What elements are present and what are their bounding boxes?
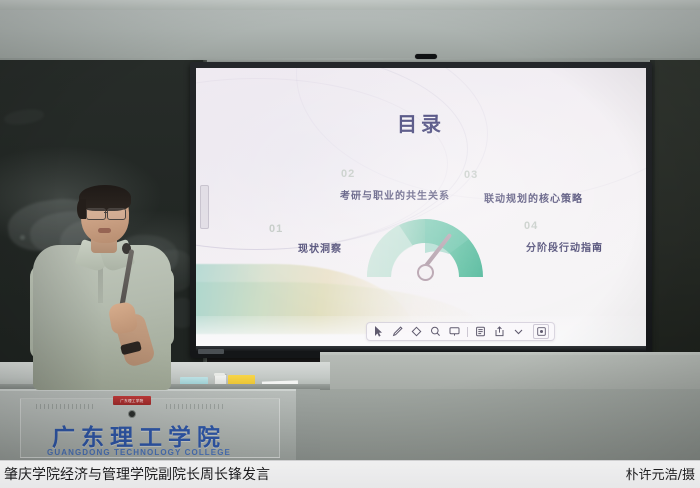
display-brand-logo — [198, 349, 224, 354]
eraser-icon[interactable] — [410, 325, 423, 338]
ceiling-strip — [0, 0, 700, 10]
toc-item-04[interactable]: 分阶段行动指南 — [526, 239, 603, 254]
chevron-down-icon[interactable] — [512, 325, 525, 338]
toc-number-03: 03 — [464, 169, 478, 181]
glasses-bridge — [104, 212, 107, 213]
podium-title: 广东理工学院 — [0, 418, 278, 452]
hair-sideburn — [77, 199, 86, 219]
annotate-icon[interactable] — [474, 325, 487, 338]
camera-icon — [415, 54, 437, 59]
presentation-slide[interactable]: 目录 01 02 — [196, 68, 646, 346]
display-chin-rail — [196, 346, 646, 351]
glasses-left-lens — [86, 208, 106, 220]
cursor-icon[interactable] — [372, 325, 385, 338]
toc-item-01[interactable]: 现状洞察 — [298, 240, 342, 255]
podium-badge: 广东理工学院 — [113, 396, 151, 405]
floor — [296, 389, 700, 460]
toc-item-03[interactable]: 联动规划的核心策略 — [484, 190, 583, 205]
gauge-graphic — [359, 205, 491, 285]
podium-lock — [128, 410, 136, 418]
magnifier-icon[interactable] — [429, 325, 442, 338]
speaker-figure — [28, 185, 178, 390]
mouth — [98, 228, 111, 233]
toc-number-04: 04 — [524, 220, 538, 232]
caption-text: 肇庆学院经济与管理学院副院长周长锋发言 — [4, 464, 270, 484]
share-icon[interactable] — [493, 325, 506, 338]
screenshot-root: 目录 01 02 — [0, 0, 700, 488]
screen-side-control[interactable] — [200, 185, 209, 229]
toc-number-02: 02 — [341, 168, 355, 180]
podium-vent-right — [166, 404, 226, 409]
toc-number-01: 01 — [269, 223, 283, 235]
photo-credit: 朴许元浩/摄 — [626, 464, 695, 483]
slide-toolbar[interactable] — [366, 322, 555, 341]
podium-subtitle: GUANGDONG TECHNOLOGY COLLEGE — [0, 448, 278, 457]
more-chip-icon[interactable] — [533, 324, 549, 339]
slide-title: 目录 — [196, 108, 646, 137]
gauge-hub — [417, 264, 434, 281]
right-wall-panel — [655, 60, 700, 355]
pen-icon[interactable] — [391, 325, 404, 338]
glasses-right-lens — [107, 208, 126, 220]
toc-item-02[interactable]: 考研与职业的共生关系 — [340, 187, 450, 202]
toolbar-divider — [467, 327, 468, 337]
podium-side — [296, 389, 320, 460]
podium-badge-label: 广东理工学院 — [120, 398, 143, 403]
podium-vent-left — [36, 404, 96, 409]
screen-icon[interactable] — [448, 325, 461, 338]
